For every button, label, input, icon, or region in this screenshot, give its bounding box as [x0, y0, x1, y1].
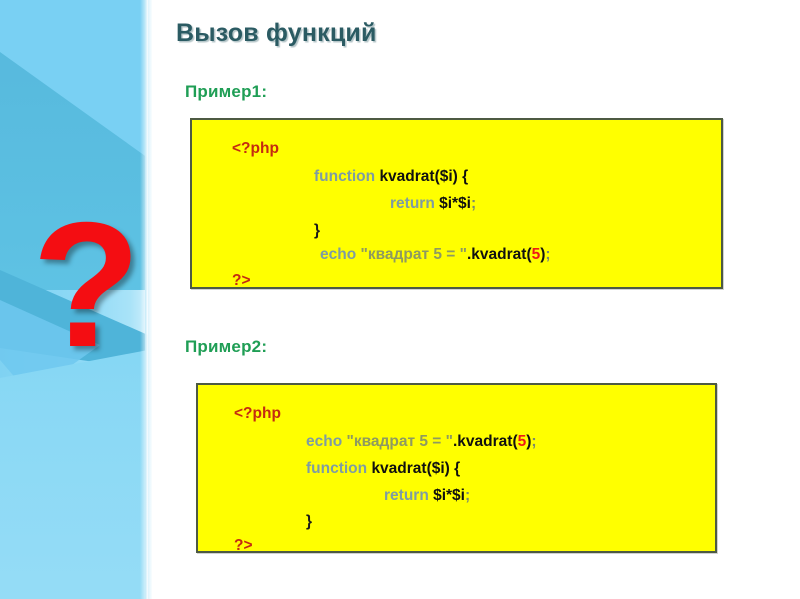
code-token-black: $i*$i: [433, 487, 465, 504]
code-line: function kvadrat($i) {: [306, 461, 460, 477]
example-2-label: Пример2:: [185, 337, 267, 357]
code-block-example-1: <?php function kvadrat($i) { return $i*$…: [190, 118, 723, 289]
code-line: echo "квадрат 5 = ".kvadrat(5);: [306, 434, 537, 450]
code-line: }: [314, 223, 320, 239]
code-token-punct: ;: [545, 246, 550, 263]
code-line: <?php: [232, 141, 279, 157]
presentation-slide: ? Вызов функций Пример1: <?php function …: [0, 0, 800, 599]
code-token-punct: ;: [471, 195, 476, 212]
code-token-kw: return: [384, 487, 433, 504]
code-line: return $i*$i;: [384, 488, 470, 504]
code-token-tag: <?php: [234, 405, 281, 422]
code-token-tag: <?php: [232, 140, 279, 157]
code-token-kw: echo: [306, 433, 346, 450]
slide-content: Вызов функций Пример1: <?php function kv…: [152, 0, 800, 599]
code-token-punct: ;: [531, 433, 536, 450]
code-line: }: [306, 514, 312, 530]
code-line: echo "квадрат 5 = ".kvadrat(5);: [320, 247, 551, 263]
code-token-kw: echo: [320, 246, 360, 263]
code-token-kw: return: [390, 195, 439, 212]
code-token-black: kvadrat($i) {: [379, 168, 468, 185]
code-token-num: 5: [532, 246, 541, 263]
code-token-brace: }: [306, 513, 312, 530]
code-line: ?>: [232, 273, 251, 289]
code-token-black: .kvadrat(: [453, 433, 518, 450]
code-token-tag: ?>: [234, 537, 253, 554]
code-token-str: "квадрат 5 = ": [346, 433, 453, 450]
code-token-black: .kvadrat(: [467, 246, 532, 263]
page-title: Вызов функций: [176, 19, 377, 48]
code-token-black: $i*$i: [439, 195, 471, 212]
code-token-str: "квадрат 5 = ": [360, 246, 467, 263]
code-token-kw: function: [306, 460, 371, 477]
code-line: function kvadrat($i) {: [314, 169, 468, 185]
code-line: <?php: [234, 406, 281, 422]
code-token-tag: ?>: [232, 272, 251, 289]
code-line: ?>: [234, 538, 253, 554]
code-token-punct: ;: [465, 487, 470, 504]
sidebar-hairline: [145, 0, 148, 599]
question-mark-icon: ?: [32, 196, 141, 374]
code-token-brace: }: [314, 222, 320, 239]
decorative-sidebar: ?: [0, 0, 152, 599]
code-token-num: 5: [518, 433, 527, 450]
code-token-black: kvadrat($i) {: [371, 460, 460, 477]
code-block-example-2: <?php echo "квадрат 5 = ".kvadrat(5); fu…: [196, 383, 717, 553]
code-line: return $i*$i;: [390, 196, 476, 212]
code-token-kw: function: [314, 168, 379, 185]
example-1-label: Пример1:: [185, 82, 267, 102]
